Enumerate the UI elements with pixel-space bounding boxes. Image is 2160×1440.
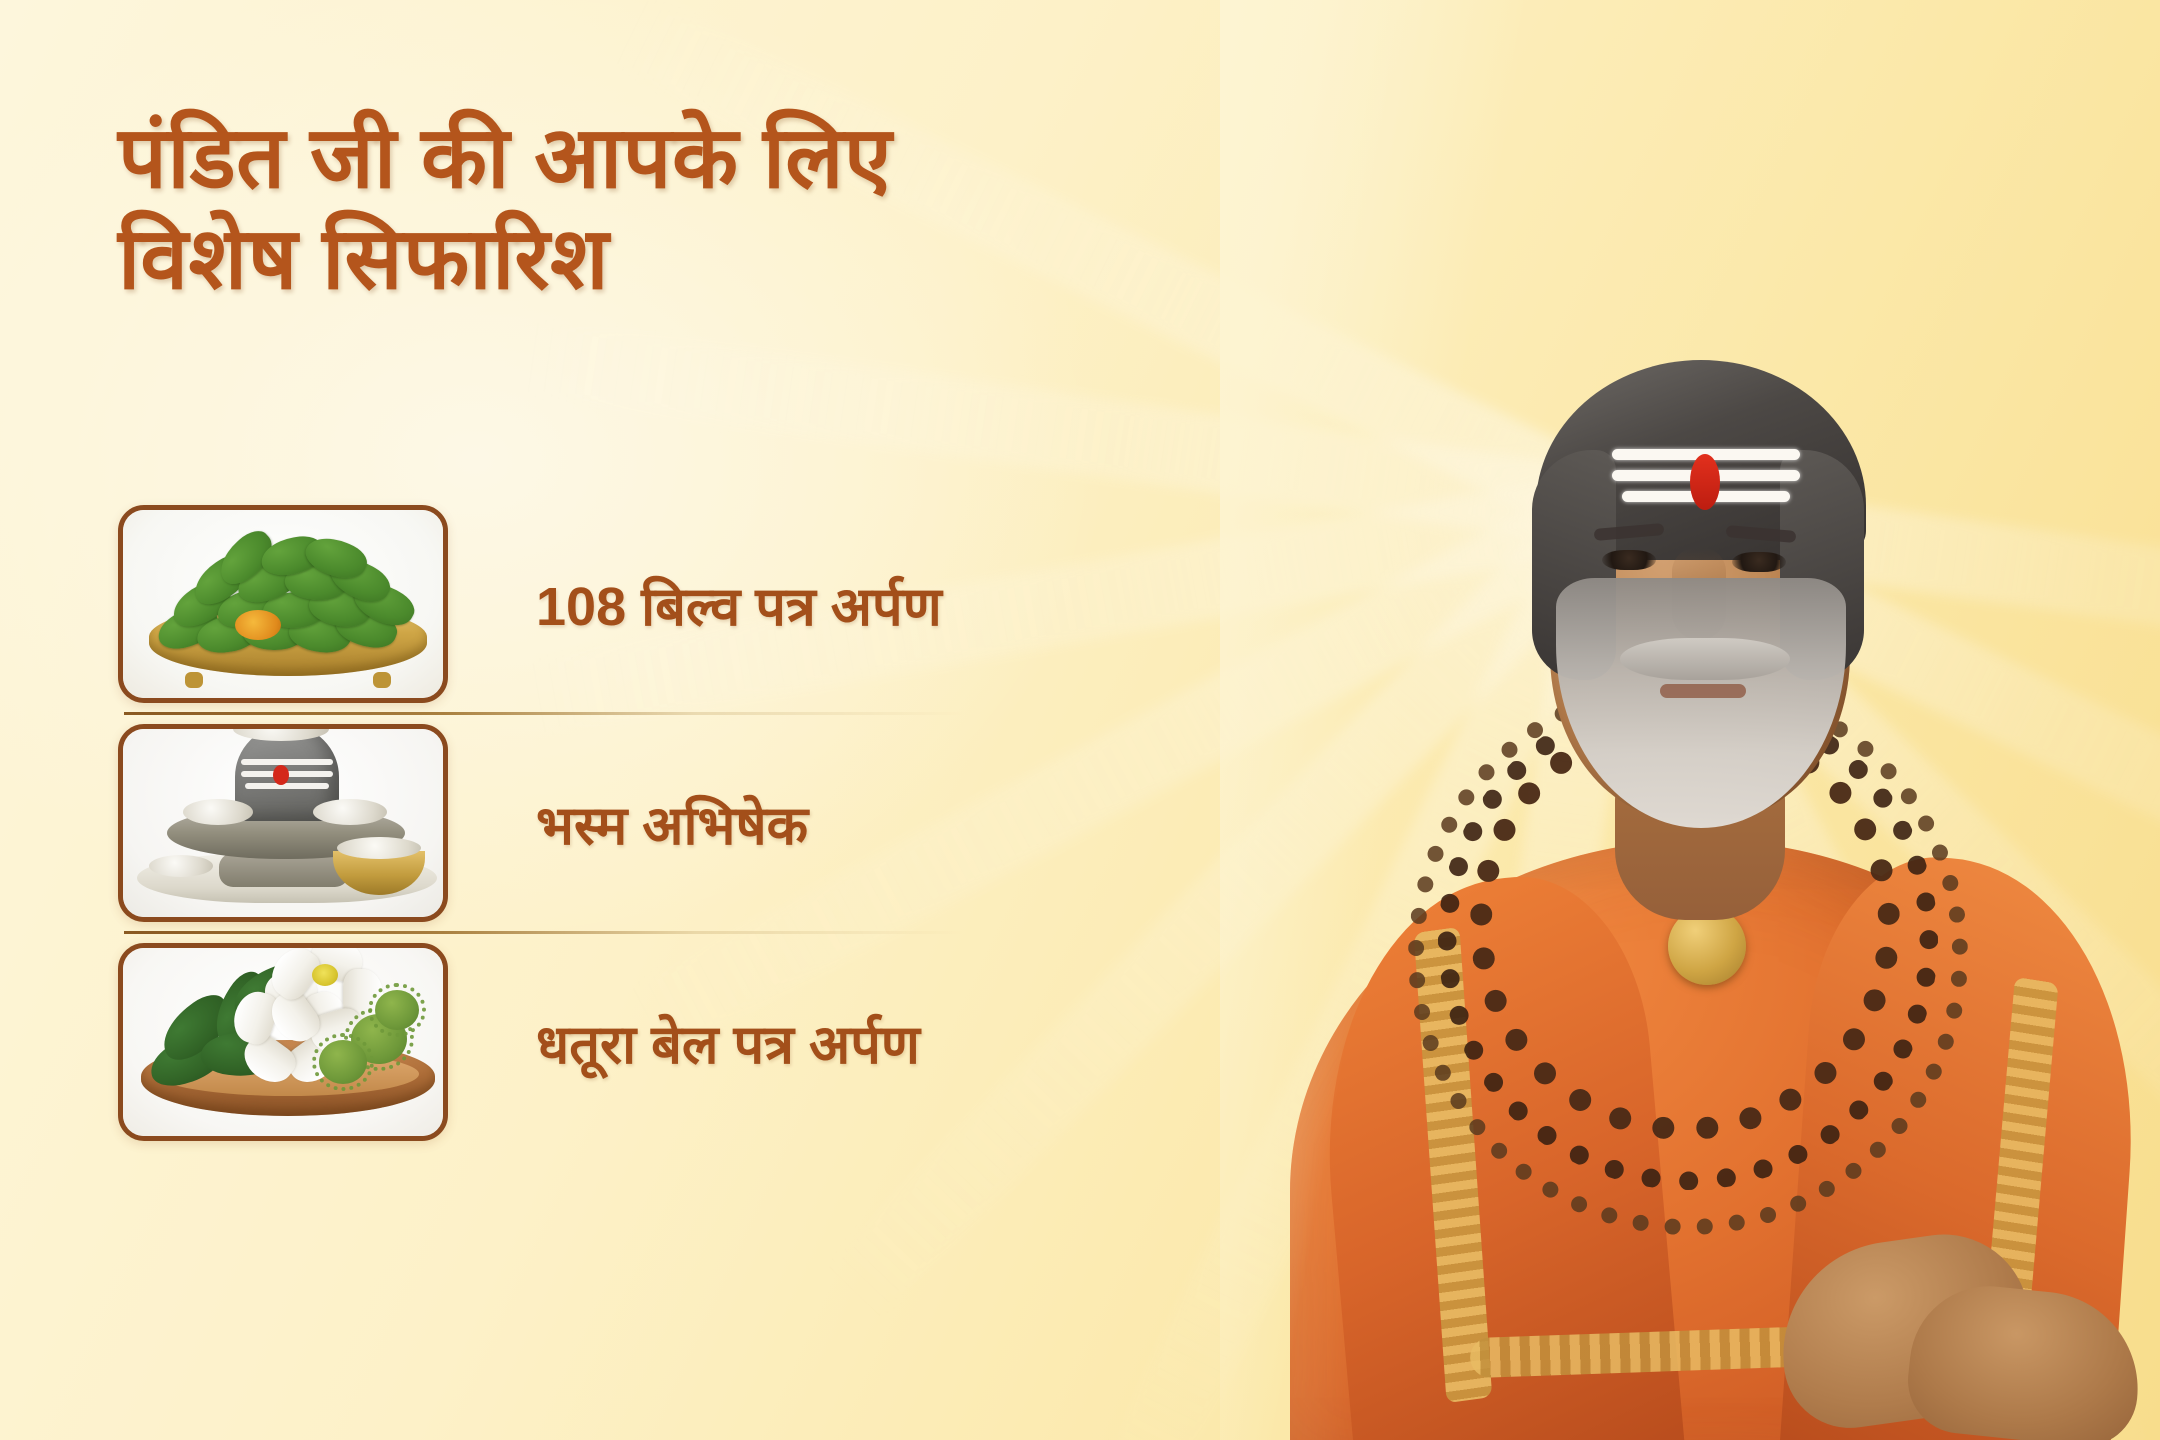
offering-thumbnail-datura (118, 943, 448, 1141)
hair-side-right (1780, 450, 1864, 680)
tripundra-forehead-mark (1612, 449, 1800, 505)
offerings-list: 108 बिल्व पत्र अर्पण (118, 500, 1128, 1146)
robe-gold-trim-left (1414, 927, 1492, 1403)
bilva-leaves-brass-tray-photo (123, 510, 443, 698)
robe-fold-left (1305, 867, 1684, 1440)
list-item[interactable]: भस्म अभिषेक (118, 719, 1128, 927)
rudraksha-mala-middle (1438, 690, 1938, 1190)
eye-left (1602, 550, 1656, 570)
rudraksha-mala-outer (1408, 675, 1968, 1235)
hair-side-left (1532, 450, 1616, 680)
list-item-label: धतूरा बेल पत्र अर्पण (536, 1005, 920, 1079)
hair (1536, 360, 1866, 560)
eyebrow-right (1726, 525, 1797, 543)
hand-left (1769, 1223, 2042, 1436)
list-item[interactable]: 108 बिल्व पत्र अर्पण (118, 500, 1128, 708)
saffron-robe (1290, 840, 2110, 1440)
datura-flowers-bel-leaves-copper-tray-photo (123, 948, 443, 1136)
page-title-line-2: विशेष सिफारिश (118, 209, 1178, 310)
list-item[interactable]: धतूरा बेल पत्र अर्पण (118, 938, 1128, 1146)
hand-right (1903, 1278, 2147, 1440)
offering-thumbnail-bilva (118, 505, 448, 703)
content-column: पंडित जी की आपके लिए विशेष सिफारिश (0, 0, 1220, 1440)
list-divider (124, 931, 964, 934)
eyebrow-left (1594, 523, 1665, 541)
robe-gold-trim-right (1977, 977, 2058, 1413)
promotional-banner: पंडित जी की आपके लिए विशेष सिफारिश (0, 0, 2160, 1440)
eye-right (1732, 552, 1786, 572)
red-tilak-icon (1690, 454, 1720, 510)
grey-beard (1556, 578, 1846, 828)
nose (1672, 548, 1726, 640)
robe-gold-hem (1469, 1322, 1940, 1378)
list-item-label: भस्म अभिषेक (536, 786, 808, 860)
mala-gold-pendant (1668, 907, 1746, 985)
list-item-label: 108 बिल्व पत्र अर्पण (536, 567, 942, 641)
neck (1615, 730, 1785, 920)
portrait-panel (1220, 0, 2160, 1440)
bhasma-covered-shiva-lingam-photo (123, 729, 443, 917)
mustache (1620, 638, 1790, 680)
face (1550, 430, 1850, 820)
offering-thumbnail-bhasma (118, 724, 448, 922)
lips (1660, 684, 1746, 698)
rudraksha-mala-inner (1470, 710, 1900, 1140)
page-title-line-1: पंडित जी की आपके लिए (118, 110, 892, 206)
list-divider (124, 712, 964, 715)
robe-fold-right (1779, 849, 2150, 1440)
pandit-priest-portrait (1220, 0, 2160, 1440)
page-title: पंडित जी की आपके लिए विशेष सिफारिश (118, 108, 1178, 311)
